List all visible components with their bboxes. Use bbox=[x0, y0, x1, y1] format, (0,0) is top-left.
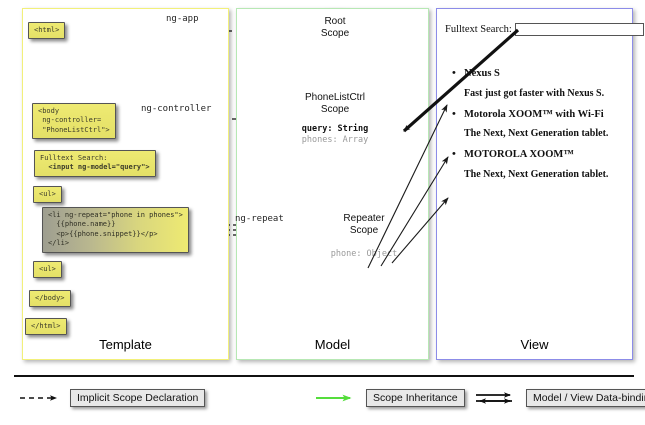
edge-label-ng-controller: ng-controller bbox=[141, 104, 211, 114]
phone-snippet: The Next, Next Generation tablet. bbox=[450, 169, 628, 181]
list-item: Motorola XOOM™ with Wi-Fi The Next, Next… bbox=[450, 109, 628, 141]
code-search-label-line: Fulltext Search: bbox=[40, 154, 107, 162]
view-search-input[interactable] bbox=[515, 23, 644, 36]
list-item: MOTOROLA XOOM™ The Next, Next Generation… bbox=[450, 149, 628, 181]
legend-item-scope-inheritance: Scope Inheritance bbox=[314, 388, 465, 408]
code-ul-open-tag: <ul> bbox=[33, 186, 62, 203]
phone-snippet: Fast just got faster with Nexus S. bbox=[450, 88, 628, 100]
code-html-open-tag: <html> bbox=[28, 22, 65, 39]
legend-label: Model / View Data-binding bbox=[526, 389, 645, 407]
phone-name: MOTOROLA XOOM™ bbox=[450, 149, 628, 162]
legend-item-implicit-scope-declaration: Implicit Scope Declaration bbox=[18, 388, 205, 408]
legend-divider bbox=[14, 375, 634, 377]
panel-label-model: Model bbox=[236, 337, 429, 352]
legend-label: Implicit Scope Declaration bbox=[70, 389, 205, 407]
double-arrow-icon bbox=[474, 388, 520, 408]
legend: Implicit Scope Declaration Scope Inherit… bbox=[14, 383, 634, 417]
code-ul-close-tag: <ul> bbox=[33, 261, 62, 278]
diagram-canvas: <html> <body ng-controller= "PhoneListCt… bbox=[0, 0, 645, 425]
dashed-arrow-icon bbox=[18, 388, 64, 408]
legend-item-model-view-data-binding: Model / View Data-binding bbox=[474, 388, 645, 408]
code-fulltext-search-input: Fulltext Search: <input ng-model="query"… bbox=[34, 150, 156, 177]
code-body-close-tag: </body> bbox=[29, 290, 71, 307]
view-phone-list: Nexus S Fast just got faster with Nexus … bbox=[450, 68, 628, 190]
code-search-input-line: <input ng-model="query"> bbox=[40, 163, 150, 171]
view-panel-content: Fulltext Search: Nexus S Fast just got f… bbox=[436, 8, 633, 360]
edge-label-ng-repeat: ng-repeat bbox=[235, 214, 284, 224]
code-li-ng-repeat: <li ng-repeat="phone in phones"> {{phone… bbox=[42, 207, 189, 253]
code-body-controller-tag: <body ng-controller= "PhoneListCtrl"> bbox=[32, 103, 116, 139]
view-search-label: Fulltext Search: bbox=[445, 24, 512, 35]
panel-label-template: Template bbox=[22, 337, 229, 352]
model-panel bbox=[236, 8, 429, 360]
legend-label: Scope Inheritance bbox=[366, 389, 465, 407]
phone-snippet: The Next, Next Generation tablet. bbox=[450, 128, 628, 140]
edge-label-ng-app: ng-app bbox=[166, 14, 199, 24]
code-html-close-tag: </html> bbox=[25, 318, 67, 335]
list-item: Nexus S Fast just got faster with Nexus … bbox=[450, 68, 628, 100]
phone-name: Motorola XOOM™ with Wi-Fi bbox=[450, 109, 628, 122]
template-panel bbox=[22, 8, 229, 360]
view-search-row: Fulltext Search: bbox=[445, 23, 625, 36]
phone-name: Nexus S bbox=[450, 68, 628, 81]
green-arrow-icon bbox=[314, 388, 360, 408]
